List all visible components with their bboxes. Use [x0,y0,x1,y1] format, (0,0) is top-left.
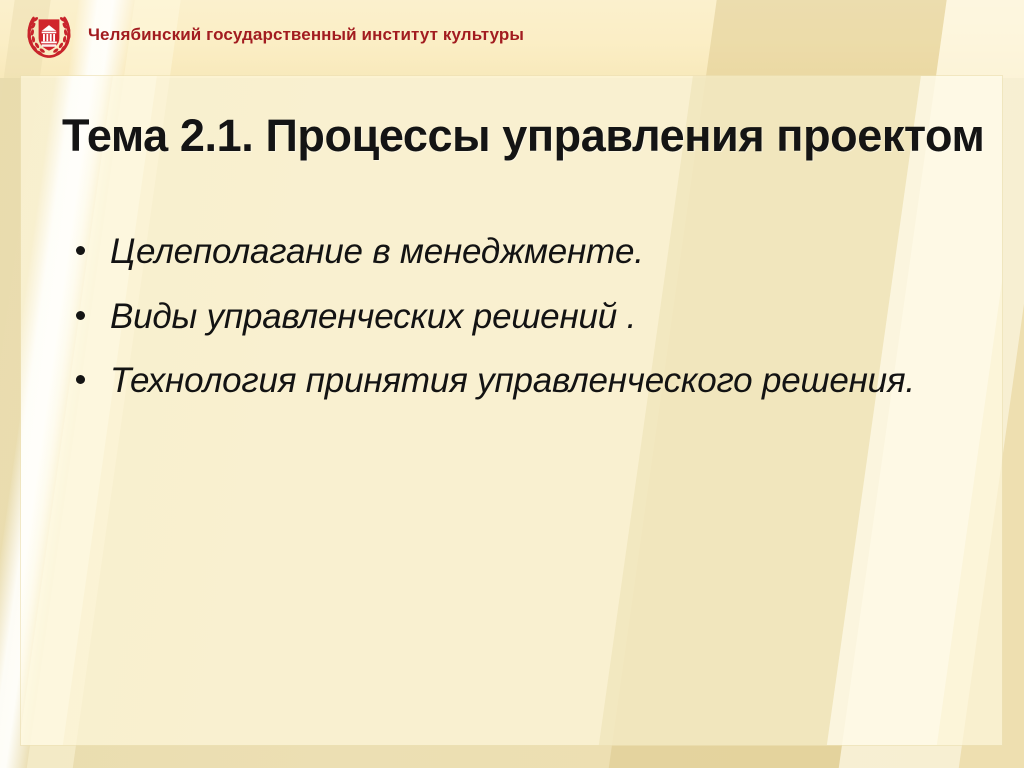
list-item: Целеполагание в менеджменте. [62,228,942,276]
list-item-text: Технология принятия управленческого реше… [110,361,915,400]
list-item-text: Целеполагание в менеджменте. [110,232,644,271]
slide-title: Тема 2.1. Процессы управления проектом [62,112,992,161]
bullet-list: Целеполагание в менеджменте. Виды управл… [62,228,942,422]
presentation-slide: Челябинский государственный институт кул… [0,0,1024,768]
list-item: Технология принятия управленческого реше… [62,357,942,405]
bullet-dot-icon [76,375,85,384]
university-crest-icon [23,9,75,61]
bullet-dot-icon [76,246,85,255]
list-item-text: Виды управленческих решений . [110,297,636,336]
slide-header: Челябинский государственный институт кул… [0,0,1024,78]
bullet-dot-icon [76,311,85,320]
list-item: Виды управленческих решений . [62,293,942,341]
organization-name: Челябинский государственный институт кул… [88,25,524,45]
